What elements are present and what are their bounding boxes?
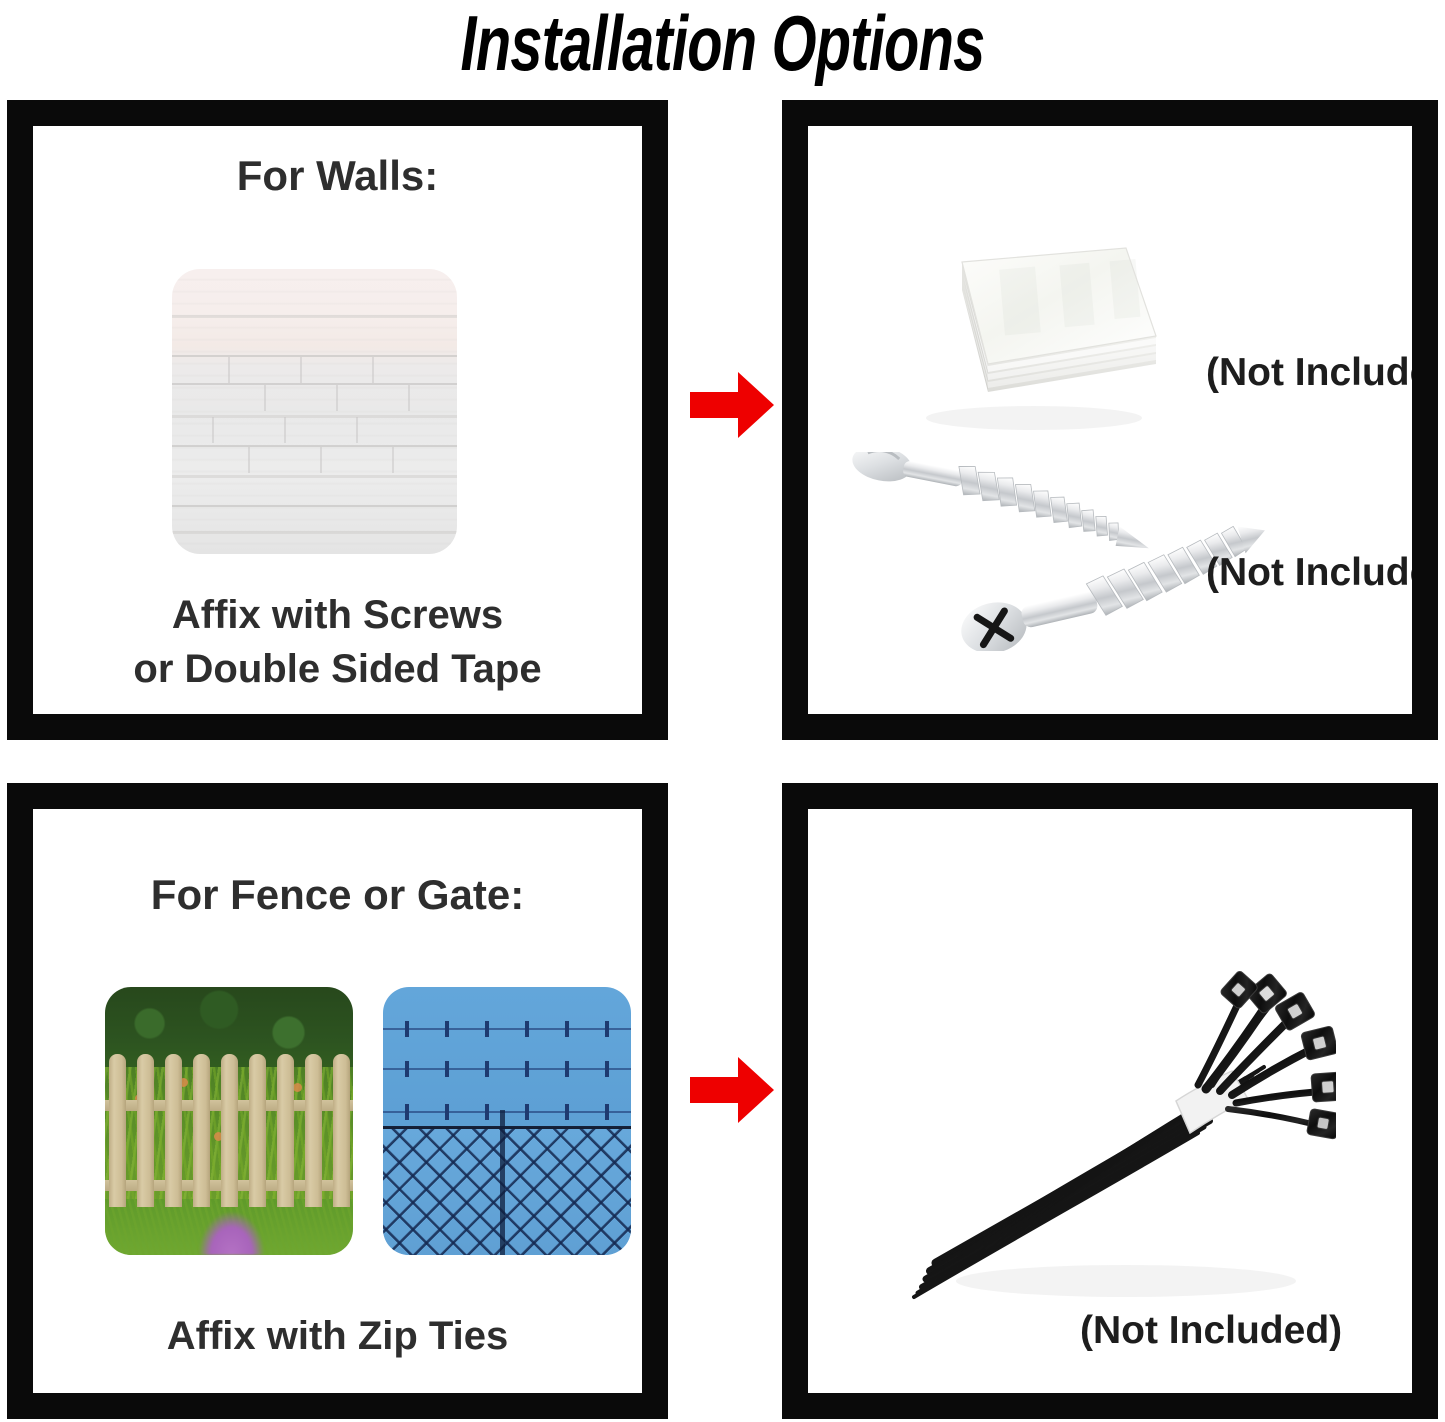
tape-not-included-label: (Not Included): [1206, 351, 1412, 395]
for-fence-heading: For Fence or Gate:: [33, 871, 642, 919]
black-zip-tie-bundle-image: [876, 929, 1336, 1319]
panel-fence-hardware: (Not Included): [782, 783, 1438, 1419]
red-right-arrow-icon: [688, 1053, 776, 1127]
panel-for-walls: For Walls: Affix with Screws or D: [7, 100, 668, 740]
page-title: Installation Options: [188, 0, 1257, 96]
for-walls-heading: For Walls:: [33, 152, 642, 200]
panel-for-fence-or-gate: For Fence or Gate:: [7, 783, 668, 1419]
walls-caption-line-1: Affix with Screws: [33, 588, 642, 642]
ziptie-not-included-label: (Not Included): [1080, 1309, 1342, 1353]
white-brick-wall-image: [172, 269, 457, 554]
panel-wall-hardware: (Not Included): [782, 100, 1438, 740]
screws-not-included-label: (Not Included): [1206, 551, 1412, 595]
fence-caption-line-1: Affix with Zip Ties: [33, 1309, 642, 1363]
chain-link-barbed-wire-fence-photo: [383, 987, 631, 1255]
wooden-picket-fence-photo: [105, 987, 353, 1255]
red-right-arrow-icon: [688, 368, 776, 442]
walls-caption-line-2: or Double Sided Tape: [33, 642, 642, 696]
double-sided-tape-stack-image: [884, 240, 1164, 432]
